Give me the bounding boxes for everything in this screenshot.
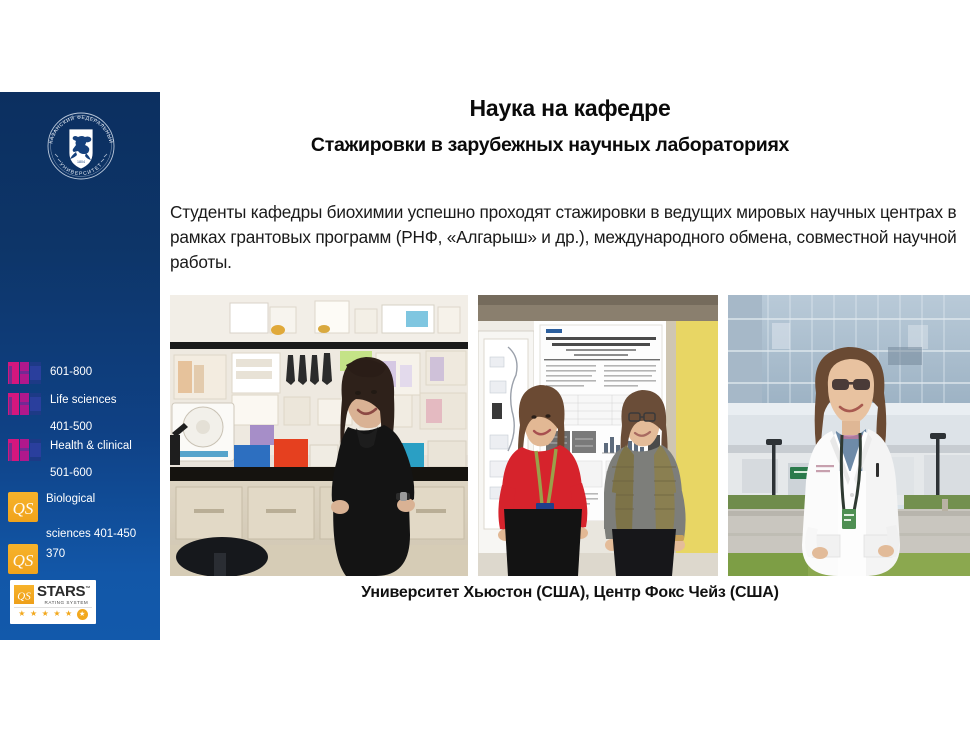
- ranking-category: Biological: [46, 492, 95, 508]
- svg-text:QS: QS: [17, 590, 31, 602]
- ranking-qs-overall: QS 370: [8, 544, 160, 576]
- qs-stars-square-icon: QS: [14, 585, 34, 604]
- qs-stars-trademark: ™: [85, 586, 90, 592]
- qs-stars-rating-row: ★ ★ ★ ★ ★ ★: [14, 607, 92, 620]
- qs-logo-icon: QS: [8, 544, 38, 574]
- svg-text:QS: QS: [13, 551, 34, 570]
- ranking-the-life-sciences: Life sciences 401-500: [8, 393, 160, 436]
- photo-lab-coat-outdoors: [728, 295, 970, 576]
- svg-text:QS: QS: [13, 499, 34, 518]
- photo-gallery: [170, 295, 970, 576]
- svg-text:1804: 1804: [77, 160, 85, 164]
- photo-lab-student: [170, 295, 468, 576]
- star-icon: ★: [18, 610, 25, 618]
- ranking-category: Life sciences: [50, 393, 116, 409]
- ranking-category: Health & clinical: [50, 439, 132, 455]
- slide-body-text: Студенты кафедры биохимии успешно проход…: [170, 200, 970, 275]
- photo-poster-session: [478, 295, 718, 576]
- ranking-the-overall: 601-800: [8, 362, 160, 386]
- photo-caption: Университет Хьюстон (США), Центр Фокс Че…: [170, 584, 970, 602]
- ranking-the-health-clinical: Health & clinical 501-600: [8, 439, 160, 482]
- slide-main-content: Наука на кафедре Стажировки в зарубежных…: [160, 92, 980, 640]
- ranking-value: 601-800: [50, 362, 92, 381]
- qs-stars-subtitle: RATING SYSTEM: [37, 600, 88, 605]
- ranking-value: 401-500: [50, 417, 160, 436]
- slide-subtitle: Стажировки в зарубежных научных лаборато…: [160, 134, 940, 157]
- star-icon: ★: [65, 610, 72, 618]
- the-logo-icon: [8, 439, 42, 461]
- university-emblem-icon: КАЗАНСКИЙ ФЕДЕРАЛЬНЫЙ УНИВЕРСИТЕТ: [42, 107, 120, 185]
- ranking-value: 370: [46, 544, 65, 563]
- qs-logo-icon: QS: [8, 492, 38, 522]
- ranking-qs-biological-sciences: QS Biological sciences 401-450: [8, 492, 160, 543]
- the-logo-icon: [8, 362, 42, 384]
- presentation-slide: КАЗАНСКИЙ ФЕДЕРАЛЬНЫЙ УНИВЕРСИТЕТ: [0, 0, 980, 735]
- the-logo-icon: [8, 393, 42, 415]
- qs-stars-wordmark: STARS: [37, 583, 85, 600]
- star-highlight-icon: ★: [77, 609, 88, 620]
- ranking-value: 501-600: [50, 463, 160, 482]
- slide-sidebar: КАЗАНСКИЙ ФЕДЕРАЛЬНЫЙ УНИВЕРСИТЕТ: [0, 92, 160, 640]
- star-icon: ★: [53, 610, 60, 618]
- star-icon: ★: [30, 610, 37, 618]
- star-icon: ★: [42, 610, 49, 618]
- slide-title: Наука на кафедре: [260, 95, 880, 122]
- ranking-value: sciences 401-450: [46, 524, 160, 543]
- qs-stars-badge: QS STARS™ RATING SYSTEM ★ ★ ★ ★ ★ ★: [10, 580, 96, 624]
